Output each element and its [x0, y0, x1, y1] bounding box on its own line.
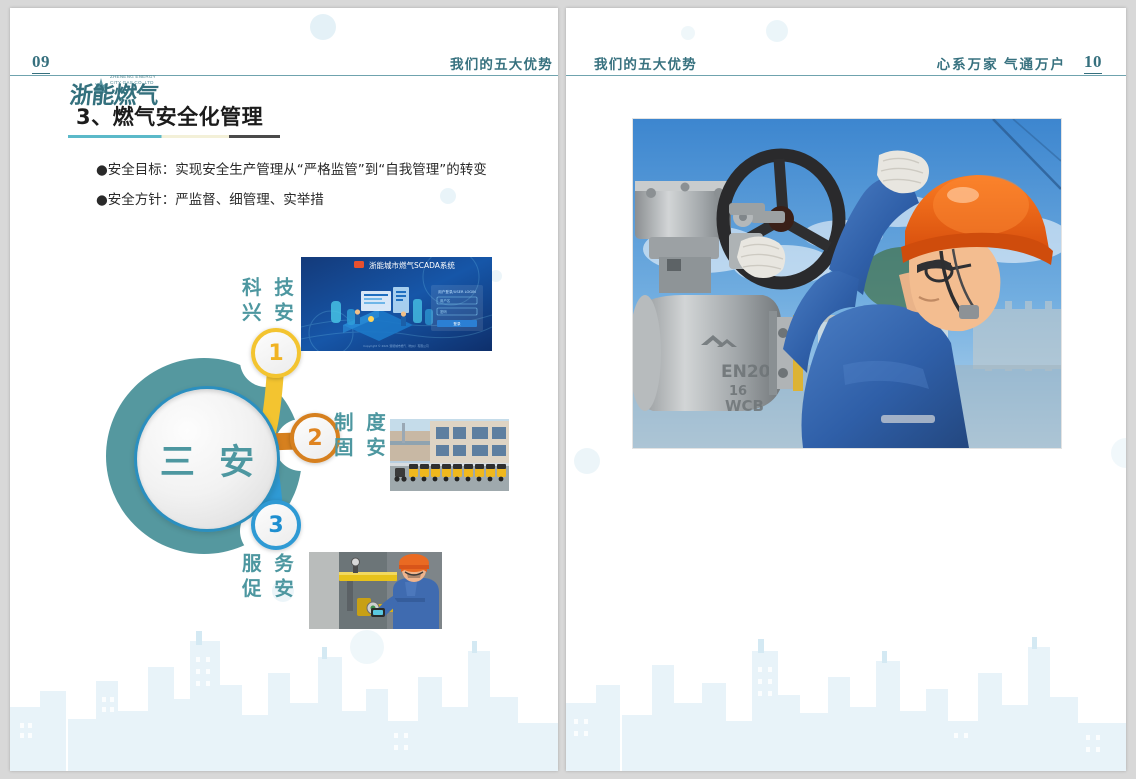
decor-circle — [574, 448, 600, 474]
core-label: 三 安 — [154, 434, 260, 485]
decor-circle — [440, 188, 456, 204]
decor-circle — [766, 20, 788, 42]
node-label-3: 服 务 促 安 — [242, 551, 297, 601]
decor-circle — [681, 26, 695, 40]
svg-text:登录: 登录 — [453, 321, 461, 326]
photo-pipe-inspection — [309, 552, 442, 629]
header-title-left: 我们的五大优势 — [450, 53, 553, 73]
left-page: 09 ZHENENG ENERGY CITY GAS CO. LTD 浙能燃气 … — [10, 8, 558, 771]
svg-text:用户名: 用户名 — [440, 298, 450, 303]
decor-circle — [1111, 438, 1126, 468]
node-badge-2[interactable]: 2 — [290, 413, 340, 463]
svg-text:用户登录/USER LOGIN: 用户登录/USER LOGIN — [438, 289, 476, 294]
node-number-1: 1 — [268, 341, 283, 366]
header-rule — [566, 75, 1126, 77]
node-badge-1[interactable]: 1 — [251, 328, 301, 378]
left-page-number: 09 — [32, 52, 50, 74]
node-label-1: 科 技 兴 安 — [242, 275, 297, 325]
left-page-header: 09 ZHENENG ENERGY CITY GAS CO. LTD 浙能燃气 … — [10, 46, 558, 76]
header-slogan: 心系万家 气通万户 — [937, 53, 1066, 73]
decor-circle — [350, 630, 384, 664]
photo-scada-system: 浙能城市燃气SCADA系统 — [301, 257, 492, 351]
right-page-number: 10 — [1084, 52, 1102, 74]
section-title: 3、燃气安全化管理 — [76, 101, 263, 131]
svg-text:浙能城市燃气SCADA系统: 浙能城市燃气SCADA系统 — [369, 260, 455, 270]
bullet-safety-goal: ●安全目标：实现安全生产管理从“严格监管”到“自我管理”的转变 — [96, 158, 487, 178]
svg-text:密码: 密码 — [440, 309, 447, 314]
node-number-3: 3 — [268, 513, 283, 538]
skyline-decoration — [10, 611, 558, 771]
decor-circle — [310, 14, 336, 40]
node-number-2: 2 — [307, 426, 322, 451]
skyline-decoration — [566, 611, 1126, 771]
header-title-right: 我们的五大优势 — [594, 53, 697, 73]
photo-service-scooters — [390, 419, 509, 491]
node-badge-3[interactable]: 3 — [251, 500, 301, 550]
right-page-header: 我们的五大优势 心系万家 气通万户 10 — [566, 46, 1126, 76]
section-title-underline — [68, 135, 280, 138]
svg-text:Copyright © 2021 浙能城市燃气（杭州）有限公: Copyright © 2021 浙能城市燃气（杭州）有限公司 — [363, 344, 429, 348]
slide-canvas: 09 ZHENENG ENERGY CITY GAS CO. LTD 浙能燃气 … — [0, 0, 1136, 779]
bullet-safety-policy: ●安全方针：严监督、细管理、实举措 — [96, 188, 324, 208]
photo-valve-operation: EN200 16 WCB — [632, 118, 1062, 449]
right-page: 我们的五大优势 心系万家 气通万户 10 — [566, 8, 1126, 771]
svg-text:WCB: WCB — [725, 397, 764, 415]
node-label-2: 制 度 固 安 — [334, 410, 389, 460]
